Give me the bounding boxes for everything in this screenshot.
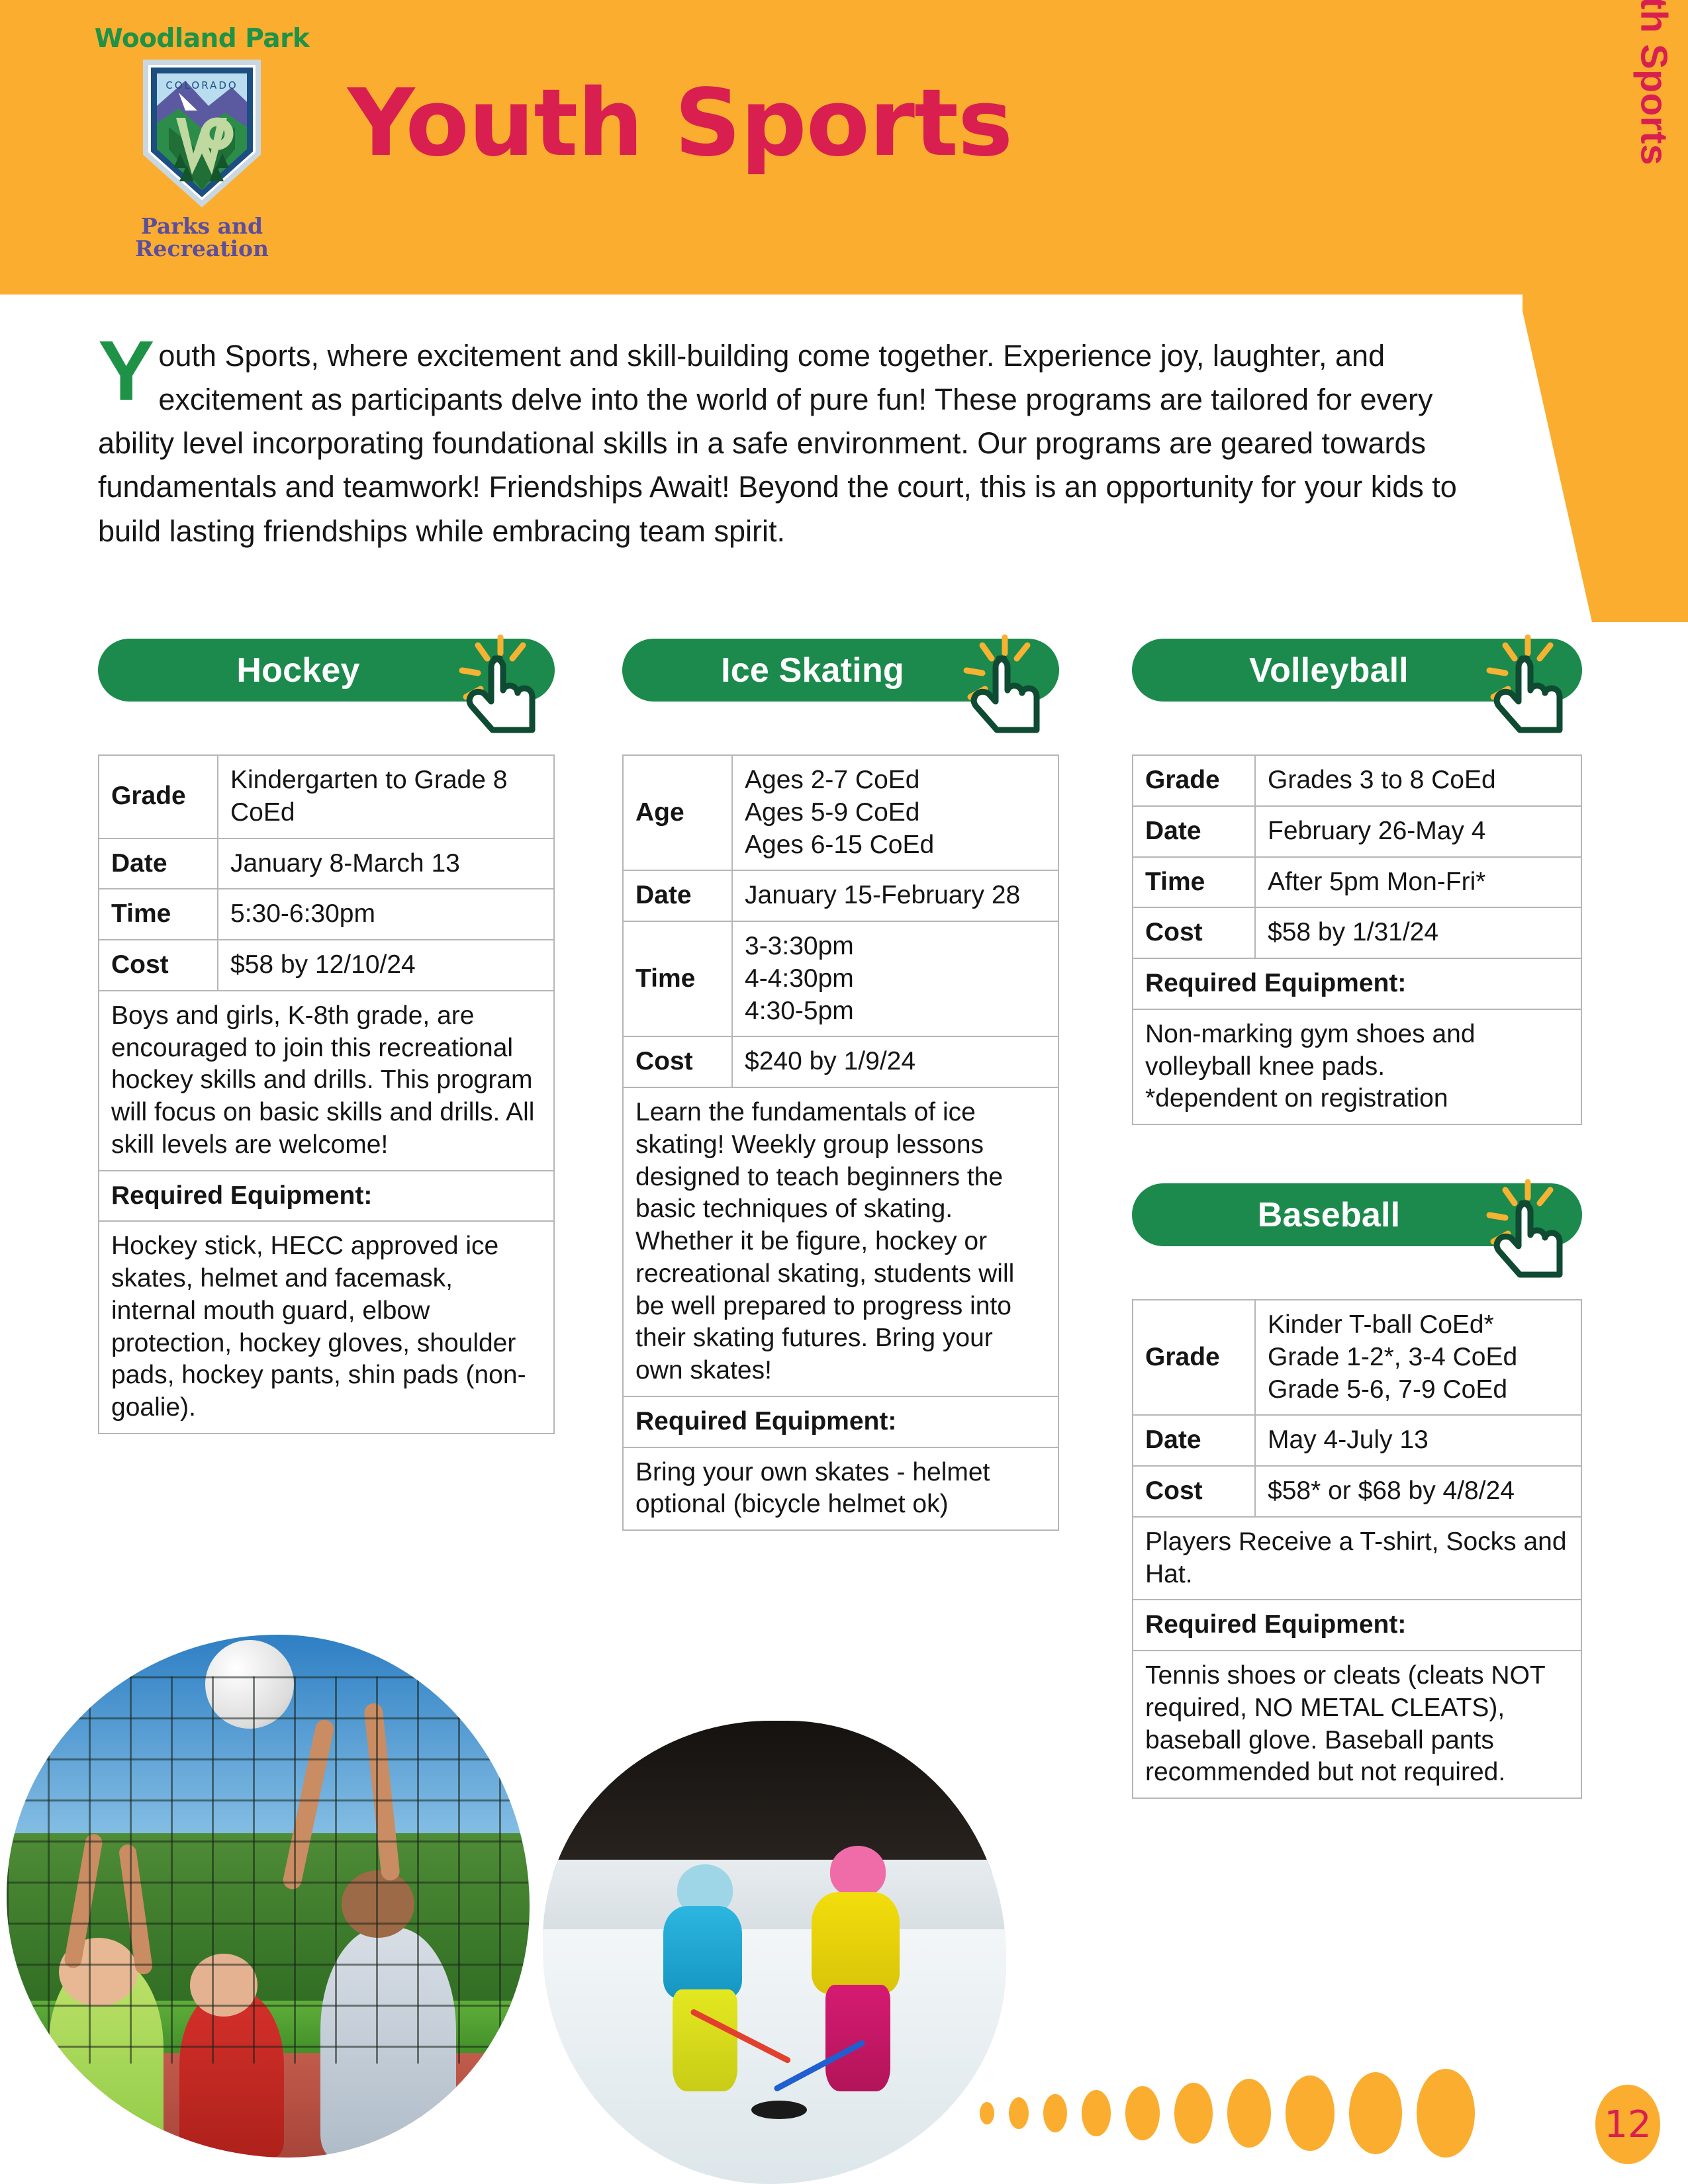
table-row-equipment-label: Required Equipment:	[623, 1396, 1058, 1447]
table-row: Cost $58* or $68 by 4/8/24	[1133, 1466, 1581, 1517]
row-value: After 5pm Mon-Fri*	[1255, 857, 1581, 908]
row-key: Time	[623, 921, 732, 1036]
table-row-equipment: Non-marking gym shoes and volleyball kne…	[1133, 1009, 1581, 1124]
row-value: May 4-July 13	[1255, 1415, 1581, 1466]
dot	[1043, 2094, 1067, 2132]
table-row: Time After 5pm Mon-Fri*	[1133, 857, 1581, 908]
volleyball-scene	[7, 1635, 530, 2158]
row-value: January 15-February 28	[732, 870, 1058, 921]
table-row-description: Players Receive a T-shirt, Socks and Hat…	[1133, 1517, 1581, 1600]
row-key: Date	[99, 839, 218, 889]
ice-skating-table: Age Ages 2-7 CoEd Ages 5-9 CoEd Ages 6-1…	[622, 754, 1059, 1531]
dot	[1082, 2090, 1111, 2136]
ice-skating-photo	[543, 1721, 1006, 2184]
volleyball-table: Grade Grades 3 to 8 CoEd Date February 2…	[1132, 754, 1582, 1125]
baseball-equipment-label: Required Equipment:	[1133, 1600, 1581, 1651]
row-value: Grades 3 to 8 CoEd	[1255, 755, 1581, 806]
pointer-hand-icon	[1464, 1175, 1597, 1281]
table-row-equipment: Bring your own skates - helmet optional …	[623, 1447, 1058, 1531]
pointer-hand-icon	[1464, 631, 1597, 737]
dot	[980, 2102, 994, 2124]
section-header-baseball[interactable]: Baseball	[1132, 1183, 1582, 1266]
table-row: Date January 8-March 13	[99, 839, 554, 889]
row-value: Ages 2-7 CoEd Ages 5-9 CoEd Ages 6-15 Co…	[732, 755, 1058, 870]
section-header-ice-skating[interactable]: Ice Skating	[622, 639, 1059, 721]
footer-dot-row	[980, 2069, 1475, 2158]
table-row: Grade Kinder T-ball CoEd* Grade 1-2*, 3-…	[1133, 1300, 1581, 1415]
row-value: $58 by 1/31/24	[1255, 907, 1581, 958]
pointer-hand-icon	[437, 631, 569, 737]
row-key: Age	[623, 755, 732, 870]
child-blue-jacket	[663, 1906, 742, 1999]
baseball-table: Grade Kinder T-ball CoEd* Grade 1-2*, 3-…	[1132, 1299, 1582, 1799]
table-row-equipment-label: Required Equipment:	[1133, 958, 1581, 1009]
page-number: 12	[1595, 2085, 1660, 2164]
table-row: Grade Kindergarten to Grade 8 CoEd	[99, 755, 554, 839]
baseball-title: Baseball	[1258, 1195, 1457, 1235]
svg-text:COLORADO: COLORADO	[165, 79, 238, 91]
table-row: Date May 4-July 13	[1133, 1415, 1581, 1466]
shield-icon: COLORADO	[139, 54, 265, 208]
rink-background	[543, 1721, 1006, 1874]
table-row: Time 5:30-6:30pm	[99, 889, 554, 940]
section-header-hockey[interactable]: Hockey	[98, 639, 555, 721]
row-key: Grade	[99, 755, 218, 839]
row-key: Cost	[99, 940, 218, 991]
logo-top-text: Woodland Park	[93, 24, 311, 54]
table-row: Age Ages 2-7 CoEd Ages 5-9 CoEd Ages 6-1…	[623, 755, 1058, 870]
volleyball-title: Volleyball	[1249, 651, 1465, 690]
column-volleyball-baseball: Volleyball Grade Grades 3 to 8 CoEd Date	[1132, 639, 1582, 1799]
row-value: $240 by 1/9/24	[732, 1036, 1058, 1087]
brochure-page: Youth Sports Woodland Park COLORADO Park…	[0, 0, 1688, 2184]
logo-bottom-text: Parks and Recreation	[93, 215, 311, 261]
dot	[1227, 2079, 1271, 2148]
dot	[1125, 2086, 1160, 2140]
baseball-description: Players Receive a T-shirt, Socks and Hat…	[1133, 1517, 1581, 1600]
table-row-equipment-label: Required Equipment:	[99, 1171, 554, 1222]
row-value: January 8-March 13	[218, 839, 554, 889]
dot	[1009, 2097, 1029, 2129]
row-key: Cost	[1133, 907, 1255, 958]
table-row: Cost $58 by 1/31/24	[1133, 907, 1581, 958]
section-header-volleyball[interactable]: Volleyball	[1132, 639, 1582, 721]
row-value: Kinder T-ball CoEd* Grade 1-2*, 3-4 CoEd…	[1255, 1300, 1581, 1415]
table-row-equipment: Tennis shoes or cleats (cleats NOT requi…	[1133, 1651, 1581, 1798]
page-title: Youth Sports	[348, 69, 1012, 177]
row-value: $58 by 12/10/24	[218, 940, 554, 991]
row-value: February 26-May 4	[1255, 806, 1581, 857]
ice-skating-equipment: Bring your own skates - helmet optional …	[623, 1447, 1058, 1531]
hockey-equipment: Hockey stick, HECC approved ice skates, …	[99, 1221, 554, 1433]
table-row-equipment: Hockey stick, HECC approved ice skates, …	[99, 1221, 554, 1433]
pink-snow-pants	[825, 1985, 890, 2091]
ice-skating-equipment-label: Required Equipment:	[623, 1396, 1058, 1447]
hockey-puck	[751, 2101, 807, 2119]
row-key: Cost	[623, 1036, 732, 1087]
dot	[1417, 2069, 1475, 2158]
table-row: Date January 15-February 28	[623, 870, 1058, 921]
woodland-park-logo: Woodland Park COLORADO Parks and Recreat…	[93, 20, 311, 271]
row-value: Kindergarten to Grade 8 CoEd	[218, 755, 554, 839]
yellow-snow-pants	[673, 1989, 737, 2091]
intro-text: outh Sports, where excitement and skill-…	[98, 339, 1457, 548]
hockey-equipment-label: Required Equipment:	[99, 1171, 554, 1222]
table-row: Time 3-3:30pm 4-4:30pm 4:30-5pm	[623, 921, 1058, 1036]
column-ice-skating: Ice Skating Age Ages 2-7 CoEd Ages 5-9 C…	[622, 639, 1059, 1531]
baseball-equipment: Tennis shoes or cleats (cleats NOT requi…	[1133, 1651, 1581, 1798]
intro-paragraph: Youth Sports, where excitement and skill…	[98, 334, 1465, 553]
helmet-pink	[830, 1846, 886, 1897]
hockey-table: Grade Kindergarten to Grade 8 CoEd Date …	[98, 754, 555, 1434]
volleyball-photo	[7, 1635, 530, 2158]
volleyball-equipment: Non-marking gym shoes and volleyball kne…	[1133, 1009, 1581, 1124]
ice-skating-title: Ice Skating	[721, 651, 961, 690]
row-value: $58* or $68 by 4/8/24	[1255, 1466, 1581, 1517]
volleyball-equipment-label: Required Equipment:	[1133, 958, 1581, 1009]
side-tab-label: Youth Sports	[1632, 0, 1676, 165]
child-yellow-jacket	[812, 1892, 900, 1994]
row-key: Grade	[1133, 755, 1255, 806]
row-value: 5:30-6:30pm	[218, 889, 554, 940]
drop-cap: Y	[98, 337, 158, 406]
table-row: Date February 26-May 4	[1133, 806, 1581, 857]
row-value: 3-3:30pm 4-4:30pm 4:30-5pm	[732, 921, 1058, 1036]
dot	[1286, 2075, 1335, 2151]
row-key: Time	[1133, 857, 1255, 908]
row-key: Time	[99, 889, 218, 940]
table-row-description: Boys and girls, K-8th grade, are encoura…	[99, 991, 554, 1171]
row-key: Cost	[1133, 1466, 1255, 1517]
hockey-title: Hockey	[236, 651, 416, 690]
table-row: Grade Grades 3 to 8 CoEd	[1133, 755, 1581, 806]
ice-rink-scene	[543, 1721, 1006, 2184]
row-key: Date	[1133, 1415, 1255, 1466]
row-key: Grade	[1133, 1300, 1255, 1415]
column-hockey: Hockey Grade Kindergarten to Grade 8 CoE…	[98, 639, 555, 1434]
dot	[1174, 2083, 1213, 2144]
row-key: Date	[1133, 806, 1255, 857]
hockey-description: Boys and girls, K-8th grade, are encoura…	[99, 991, 554, 1171]
table-row-equipment-label: Required Equipment:	[1133, 1600, 1581, 1651]
row-key: Date	[623, 870, 732, 921]
ice-skating-description: Learn the fundamentals of ice skating! W…	[623, 1087, 1058, 1396]
table-row: Cost $240 by 1/9/24	[623, 1036, 1058, 1087]
rink-boards	[543, 1860, 1006, 1934]
dot	[1349, 2072, 1402, 2154]
table-row: Cost $58 by 12/10/24	[99, 940, 554, 991]
pointer-hand-icon	[941, 631, 1074, 737]
table-row-description: Learn the fundamentals of ice skating! W…	[623, 1087, 1058, 1396]
volleyball-net	[7, 1676, 530, 2064]
